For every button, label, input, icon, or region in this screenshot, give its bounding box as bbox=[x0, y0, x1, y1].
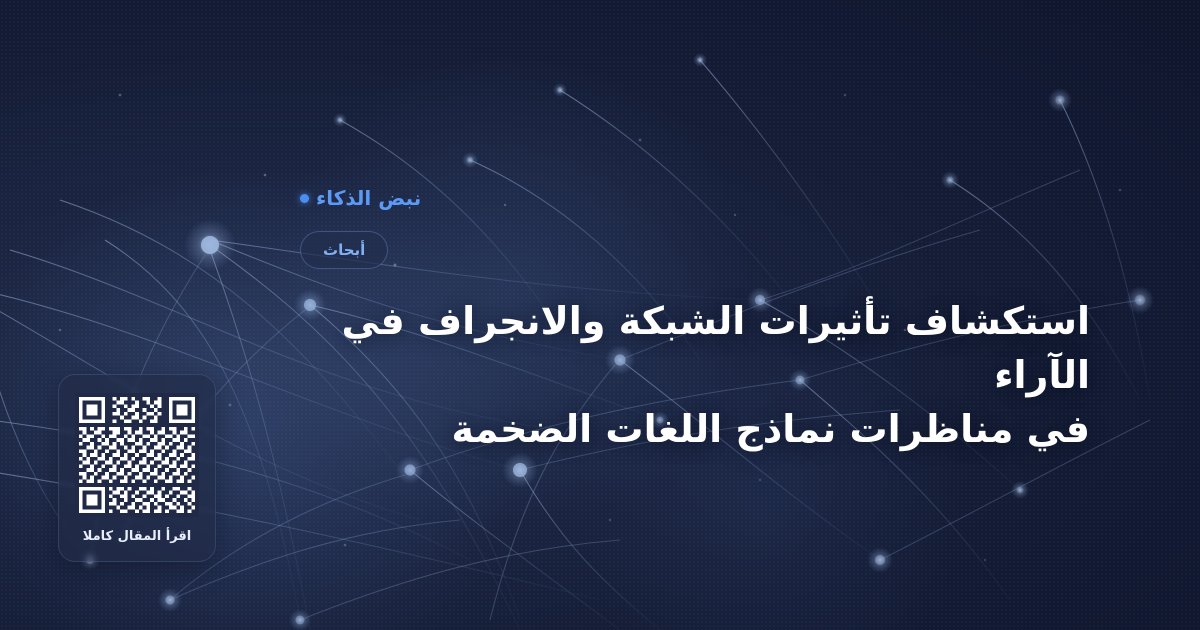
qr-code-icon bbox=[75, 393, 199, 517]
page-title: استكشاف تأثيرات الشبكة والانجراف في الآر… bbox=[300, 295, 1090, 457]
share-card: اقرأ المقال كاملا نبض الذكاء أبحاث استكش… bbox=[0, 0, 1200, 630]
qr-card[interactable]: اقرأ المقال كاملا bbox=[58, 374, 216, 562]
brand-name: نبض الذكاء bbox=[316, 186, 421, 210]
brand-dot-icon bbox=[300, 194, 309, 203]
content-column: نبض الذكاء أبحاث استكشاف تأثيرات الشبكة … bbox=[300, 186, 1140, 457]
headline-line-2: في مناظرات نماذج اللغات الضخمة bbox=[300, 403, 1090, 457]
headline-line-1: استكشاف تأثيرات الشبكة والانجراف في الآر… bbox=[300, 295, 1090, 403]
brand-logo[interactable]: نبض الذكاء bbox=[300, 186, 421, 210]
category-badge[interactable]: أبحاث bbox=[300, 231, 388, 269]
qr-caption: اقرأ المقال كاملا bbox=[83, 529, 192, 544]
